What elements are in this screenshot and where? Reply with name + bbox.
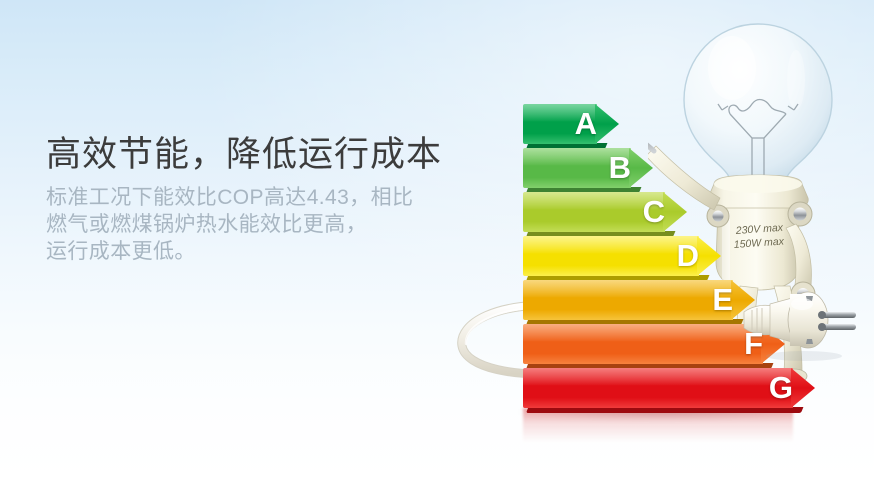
description-line-2: 燃气或燃煤锅炉热水能效比更高， <box>46 211 516 238</box>
energy-bar-letter-a: A <box>575 108 597 139</box>
energy-bar-body <box>523 324 763 364</box>
description-line-3: 运行成本更低。 <box>46 238 516 265</box>
energy-bar-row: E <box>523 280 755 320</box>
energy-bar-b: B <box>523 148 653 188</box>
energy-bar-letter-d: D <box>677 240 699 271</box>
energy-bar-body <box>523 280 733 320</box>
energy-bar-gloss <box>523 236 699 253</box>
energy-bar-body <box>523 236 699 276</box>
energy-bar-row: F <box>523 324 785 364</box>
energy-bar-a: A <box>523 104 619 144</box>
energy-bar-c: C <box>523 192 687 232</box>
energy-bar-arrow-head <box>595 104 619 144</box>
energy-bar-gloss <box>523 280 733 297</box>
energy-bar-arrow-head <box>663 192 687 232</box>
energy-bar-d: D <box>523 236 721 276</box>
energy-bar-g: G <box>523 368 815 408</box>
energy-bar-f: F <box>523 324 785 364</box>
description-block: 标准工况下能效比COP高达4.43，相比 燃气或燃煤锅炉热水能效比更高， 运行成… <box>46 184 516 265</box>
energy-bar-row: D <box>523 236 721 276</box>
energy-bar-row: A <box>523 104 619 144</box>
energy-bar-arrow-head <box>629 148 653 188</box>
energy-bar-e: E <box>523 280 755 320</box>
energy-efficiency-banner: 高效节能，降低运行成本 标准工况下能效比COP高达4.43，相比 燃气或燃煤锅炉… <box>0 0 874 480</box>
energy-bar-letter-e: E <box>712 284 733 315</box>
energy-efficiency-rating-chart: A B C D E F G <box>505 100 825 430</box>
energy-bar-row: B <box>523 148 653 188</box>
energy-bar-row: C <box>523 192 687 232</box>
energy-bar-letter-f: F <box>744 328 763 359</box>
energy-bar-letter-b: B <box>609 152 631 183</box>
energy-bar-gloss <box>523 324 763 341</box>
energy-bar-letter-c: C <box>643 196 665 227</box>
description-line-1: 标准工况下能效比COP高达4.43，相比 <box>46 184 516 211</box>
copy-block: 高效节能，降低运行成本 标准工况下能效比COP高达4.43，相比 燃气或燃煤锅炉… <box>46 132 516 265</box>
page-title: 高效节能，降低运行成本 <box>46 132 516 178</box>
energy-bar-arrow-head <box>697 236 721 276</box>
energy-bar-row: G <box>523 368 815 408</box>
energy-bar-letter-g: G <box>769 372 793 403</box>
